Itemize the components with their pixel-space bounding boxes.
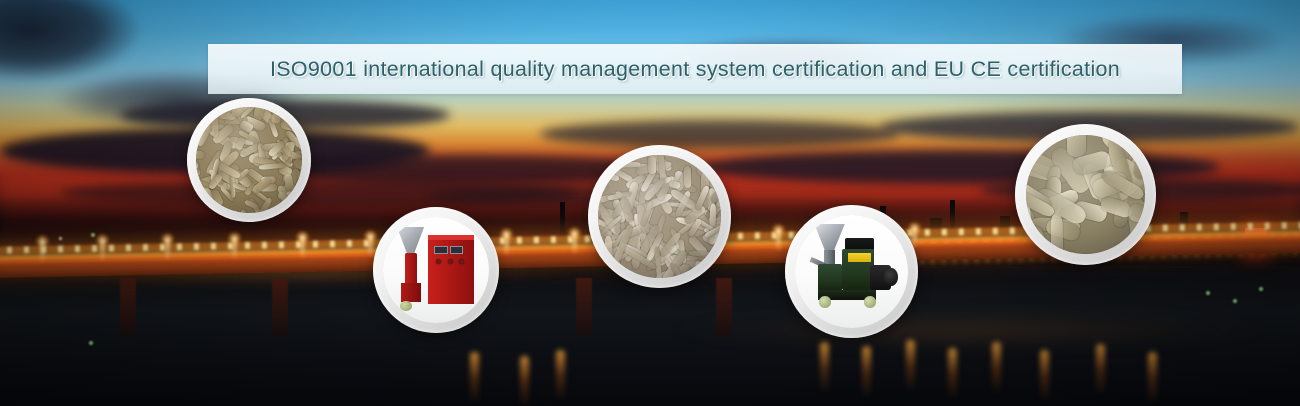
pellet-texture xyxy=(196,107,302,213)
pellet-texture xyxy=(1026,135,1145,254)
pellet-shading xyxy=(196,107,302,213)
page-title: ISO9001 international quality management… xyxy=(270,57,1120,82)
product-circle-wood-pellets[interactable] xyxy=(187,98,311,222)
green-machine-scene xyxy=(795,215,908,328)
product-circle-large-pellets[interactable] xyxy=(1015,124,1156,265)
pellet-shading xyxy=(598,155,721,278)
circle-image xyxy=(383,217,489,323)
pellet-texture xyxy=(598,155,721,278)
circle-image xyxy=(196,107,302,213)
headline-banner: ISO9001 international quality management… xyxy=(208,44,1182,94)
circle-image xyxy=(1026,135,1145,254)
pellet-shading xyxy=(1026,135,1145,254)
red-machine-scene xyxy=(383,217,489,323)
product-circle-long-pellets[interactable] xyxy=(588,145,731,288)
circle-image xyxy=(598,155,721,278)
promo-banner: ISO9001 international quality management… xyxy=(0,0,1300,406)
product-circle-green-pellet-mill[interactable] xyxy=(785,205,918,338)
product-circle-red-pellet-mill[interactable] xyxy=(373,207,499,333)
circle-image xyxy=(795,215,908,328)
